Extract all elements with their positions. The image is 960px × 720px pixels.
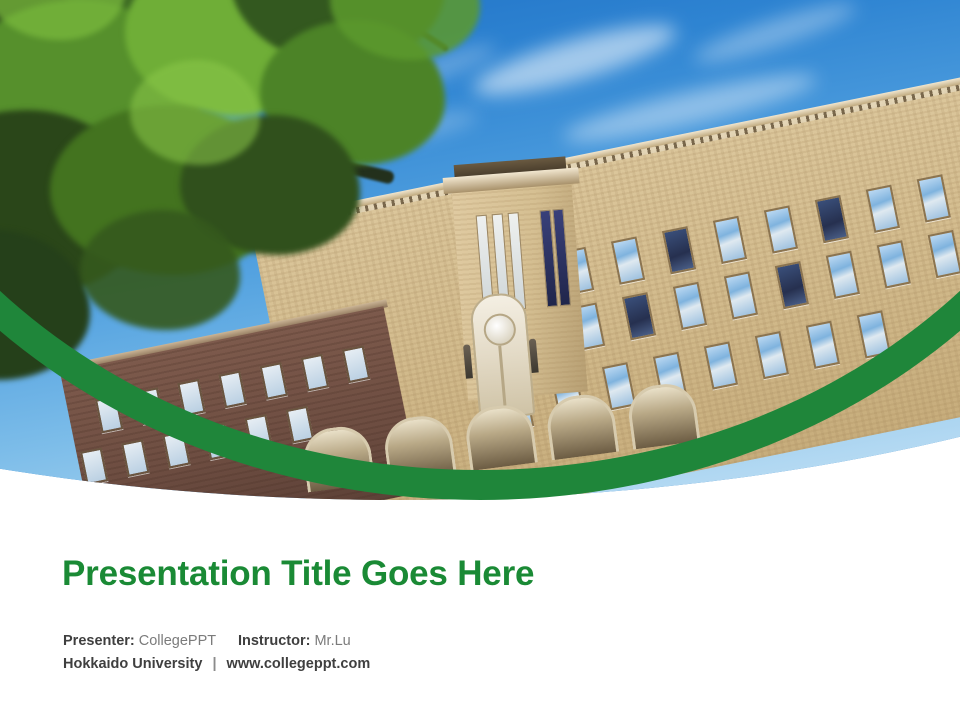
- presenter-meta: Presenter: CollegePPT Instructor: Mr.Lu …: [63, 630, 370, 676]
- window: [245, 414, 273, 452]
- window: [866, 185, 900, 233]
- meta-line-organization: Hokkaido University | www.collegeppt.com: [63, 653, 370, 676]
- window: [611, 236, 645, 284]
- instructor-label: Instructor:: [238, 633, 311, 649]
- window: [724, 271, 758, 319]
- hero-photo-region: [0, 0, 960, 500]
- organization-name: Hokkaido University: [63, 656, 202, 672]
- arch: [463, 402, 538, 471]
- presenter-label: Presenter:: [63, 633, 135, 649]
- presenter-value: CollegePPT: [139, 633, 216, 649]
- window: [622, 292, 656, 340]
- meta-line-presenter: Presenter: CollegePPT Instructor: Mr.Lu: [63, 630, 370, 653]
- window: [806, 321, 840, 369]
- arch: [544, 391, 619, 460]
- window: [662, 226, 696, 274]
- campus-photo: [0, 0, 960, 500]
- window: [713, 216, 747, 264]
- window: [218, 370, 246, 408]
- page-title: Presentation Title Goes Here: [62, 554, 534, 594]
- window: [673, 282, 707, 330]
- window: [203, 422, 231, 460]
- instructor-value: Mr.Lu: [314, 633, 350, 649]
- building: [0, 0, 960, 500]
- window: [755, 331, 789, 379]
- window: [775, 261, 809, 309]
- arch: [300, 423, 375, 492]
- window: [260, 362, 288, 400]
- window: [826, 251, 860, 299]
- window: [162, 431, 190, 469]
- window: [177, 379, 205, 417]
- meta-separator: |: [206, 656, 222, 672]
- window: [301, 354, 329, 392]
- window: [815, 195, 849, 243]
- arch: [381, 412, 456, 481]
- presentation-slide: Presentation Title Goes Here Presenter: …: [0, 0, 960, 720]
- arch: [625, 380, 700, 449]
- window: [764, 205, 798, 253]
- slide-content: Presentation Title Goes Here Presenter: …: [0, 500, 960, 720]
- website-url[interactable]: www.collegeppt.com: [227, 656, 371, 672]
- finial: [463, 344, 473, 378]
- window: [877, 240, 911, 288]
- window: [136, 387, 164, 425]
- window: [121, 439, 149, 477]
